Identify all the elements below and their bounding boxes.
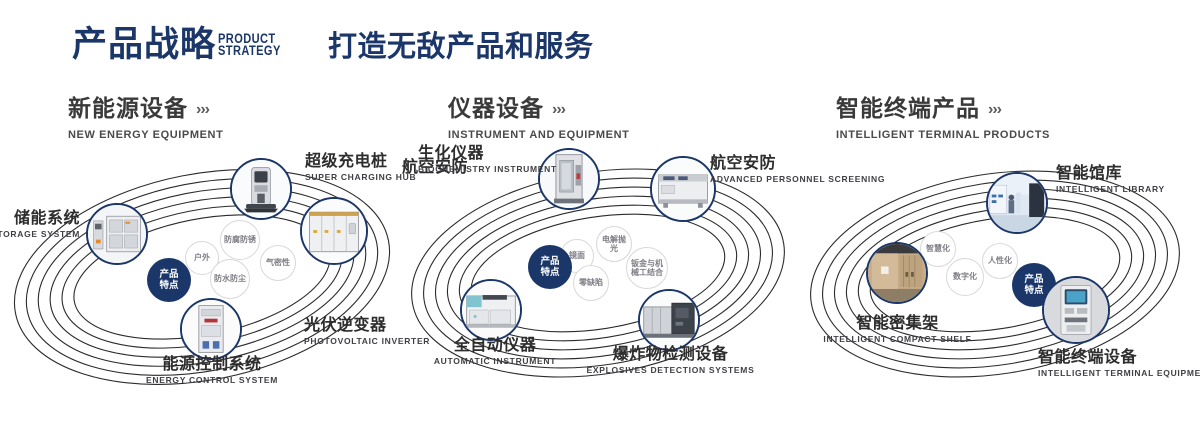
node-super-charging-hub[interactable] bbox=[230, 158, 292, 220]
feature-bubble-2-4: 零缺陷 bbox=[573, 265, 609, 301]
node-label-cn-3-2: 智能终端设备 bbox=[1038, 348, 1200, 365]
node-energy-control-system[interactable] bbox=[180, 298, 242, 360]
section-heading-instrument: 仪器设备››› INSTRUMENT AND EQUIPMENT bbox=[448, 98, 629, 141]
charging-hub-photo bbox=[232, 160, 290, 218]
chevrons-icon-1: ››› bbox=[196, 102, 209, 118]
feature-bubble-2-3: 钣金与机械工结合 bbox=[626, 247, 668, 289]
core-bubble-1: 产品 特点 bbox=[147, 258, 191, 302]
explosives-detection-photo bbox=[640, 291, 698, 349]
feature-bubble-2-2: 电解抛光 bbox=[596, 226, 632, 262]
page-header: 产品战略 PRODUCT STRATEGY 打造无敌产品和服务 bbox=[0, 0, 1200, 86]
section-title-text-1: 新能源设备 bbox=[68, 96, 188, 122]
section-title-cn-2: 仪器设备››› bbox=[448, 98, 629, 121]
feature-bubble-3-2: 数字化 bbox=[946, 258, 984, 296]
core-bubble-line2-1: 特点 bbox=[159, 280, 178, 291]
terminal-equipment-photo bbox=[1044, 278, 1108, 342]
screening-photo bbox=[652, 158, 714, 220]
node-label-energy-storage: 储能系统 ENERGY STORAGE SYSTEM bbox=[0, 209, 80, 239]
node-label-automatic-instrument: 全自动仪器 AUTOMATIC INSTRUMENT bbox=[370, 336, 620, 366]
page-title-en-line2: STRATEGY bbox=[218, 45, 284, 57]
feature-bubble-label-2-2: 电解抛光 bbox=[599, 235, 629, 254]
node-intelligent-library[interactable] bbox=[986, 172, 1048, 234]
cluster-instrument: 镜面 电解抛光 钣金与机械工结合 零缺陷 产品 特点 航空安防 生化仪器 BIO… bbox=[398, 146, 798, 408]
node-photovoltaic-inverter[interactable] bbox=[300, 197, 368, 265]
node-label-energy-control-system: 能源控制系统 ENERGY CONTROL SYSTEM bbox=[87, 355, 337, 385]
core-bubble-line2-2: 特点 bbox=[540, 267, 559, 278]
node-label-cn-1-4: 能源控制系统 bbox=[87, 355, 337, 372]
node-label-en-1-4: ENERGY CONTROL SYSTEM bbox=[87, 375, 337, 385]
node-label-en-3-1: INTELLIGENT LIBRARY bbox=[1056, 184, 1200, 194]
section-heading-intelligent: 智能终端产品››› INTELLIGENT TERMINAL PRODUCTS bbox=[836, 98, 1050, 141]
node-label-en-1-1: ENERGY STORAGE SYSTEM bbox=[0, 229, 80, 239]
node-explosives-detection[interactable] bbox=[638, 289, 700, 351]
feature-bubble-1-2: 防腐防锈 bbox=[220, 220, 260, 260]
page-title-cn: 产品战略 bbox=[72, 28, 216, 63]
core-bubble-line2-3: 特点 bbox=[1024, 285, 1043, 296]
section-title-cn-1: 新能源设备››› bbox=[68, 98, 223, 121]
chevrons-icon-3: ››› bbox=[988, 102, 1001, 118]
node-automatic-instrument[interactable] bbox=[460, 279, 522, 341]
node-label-cn-3-1: 智能馆库 bbox=[1056, 164, 1200, 181]
node-label-en-2-3: EXPLOSIVES DETECTION SYSTEMS bbox=[543, 365, 798, 375]
automatic-instrument-photo bbox=[462, 281, 520, 339]
core-bubble-2: 产品 特点 bbox=[528, 245, 572, 289]
node-label-cn-3-3: 智能密集架 bbox=[785, 314, 1010, 331]
section-title-en-1: NEW ENERGY EQUIPMENT bbox=[68, 129, 223, 141]
section-title-cn-3: 智能终端产品››› bbox=[836, 98, 1050, 121]
node-label-cn-2-4: 全自动仪器 bbox=[370, 336, 620, 353]
node-intelligent-compact-shelf[interactable] bbox=[866, 242, 928, 304]
feature-bubble-label-2-3: 钣金与机械工结合 bbox=[629, 259, 665, 278]
node-advanced-personnel-screening[interactable] bbox=[650, 156, 716, 222]
pv-inverter-photo bbox=[302, 199, 366, 263]
node-label-intelligent-terminal-equipment: 智能终端设备 INTELLIGENT TERMINAL EQUIPMENT bbox=[1038, 348, 1200, 378]
feature-bubble-label-1-3: 防水防尘 bbox=[214, 274, 246, 284]
energy-storage-photo bbox=[88, 205, 146, 263]
core-bubble-line1-1: 产品 bbox=[159, 269, 178, 280]
cluster-intelligent-terminal: 智慧化 数字化 人性化 产品 特点 智能馆库 INTELLIGENT LIBRA… bbox=[790, 146, 1190, 408]
feature-bubble-label-1-2: 防腐防锈 bbox=[224, 235, 256, 245]
node-label-intelligent-library: 智能馆库 INTELLIGENT LIBRARY bbox=[1056, 164, 1200, 194]
feature-bubble-3-3: 人性化 bbox=[982, 243, 1018, 279]
node-label-intelligent-compact-shelf: 智能密集架 INTELLIGENT COMPACT SHELF bbox=[785, 314, 1010, 344]
node-label-en-3-3: INTELLIGENT COMPACT SHELF bbox=[785, 334, 1010, 344]
section-title-text-3: 智能终端产品 bbox=[836, 96, 980, 122]
node-energy-storage[interactable] bbox=[86, 203, 148, 265]
node-label-en-3-2: INTELLIGENT TERMINAL EQUIPMENT bbox=[1038, 368, 1200, 378]
feature-bubble-1-3: 防水防尘 bbox=[210, 259, 250, 299]
node-intelligent-terminal-equipment[interactable] bbox=[1042, 276, 1110, 344]
section-title-text-2: 仪器设备 bbox=[448, 96, 544, 122]
node-label-en-2-1: BIOCHEMISTRY INSTRUMENT bbox=[418, 164, 548, 174]
biochemistry-photo bbox=[540, 150, 598, 208]
energy-control-photo bbox=[182, 300, 240, 358]
cluster-new-energy: 户外 防腐防锈 防水防尘 气密性 产品 特点 储能系统 ENERGY STORA… bbox=[2, 146, 402, 408]
core-bubble-line1-2: 产品 bbox=[540, 256, 559, 267]
chevrons-icon-2: ››› bbox=[552, 102, 565, 118]
intelligent-library-photo bbox=[988, 174, 1046, 232]
page-title-en: PRODUCT STRATEGY bbox=[218, 33, 284, 57]
node-label-cn-1-1: 储能系统 bbox=[0, 209, 80, 226]
node-label-cn-2-1: 生化仪器 bbox=[418, 144, 548, 161]
page-subtitle: 打造无敌产品和服务 bbox=[328, 32, 594, 61]
section-heading-new-energy: 新能源设备››› NEW ENERGY EQUIPMENT bbox=[68, 98, 223, 141]
node-label-en-2-4: AUTOMATIC INSTRUMENT bbox=[370, 356, 620, 366]
section-title-en-3: INTELLIGENT TERMINAL PRODUCTS bbox=[836, 129, 1050, 141]
compact-shelf-photo bbox=[868, 244, 926, 302]
node-label-biochemistry-instrument: 生化仪器 BIOCHEMISTRY INSTRUMENT bbox=[418, 144, 548, 174]
section-title-en-2: INSTRUMENT AND EQUIPMENT bbox=[448, 129, 629, 141]
core-bubble-line1-3: 产品 bbox=[1024, 274, 1043, 285]
feature-bubble-1-4: 气密性 bbox=[260, 245, 296, 281]
